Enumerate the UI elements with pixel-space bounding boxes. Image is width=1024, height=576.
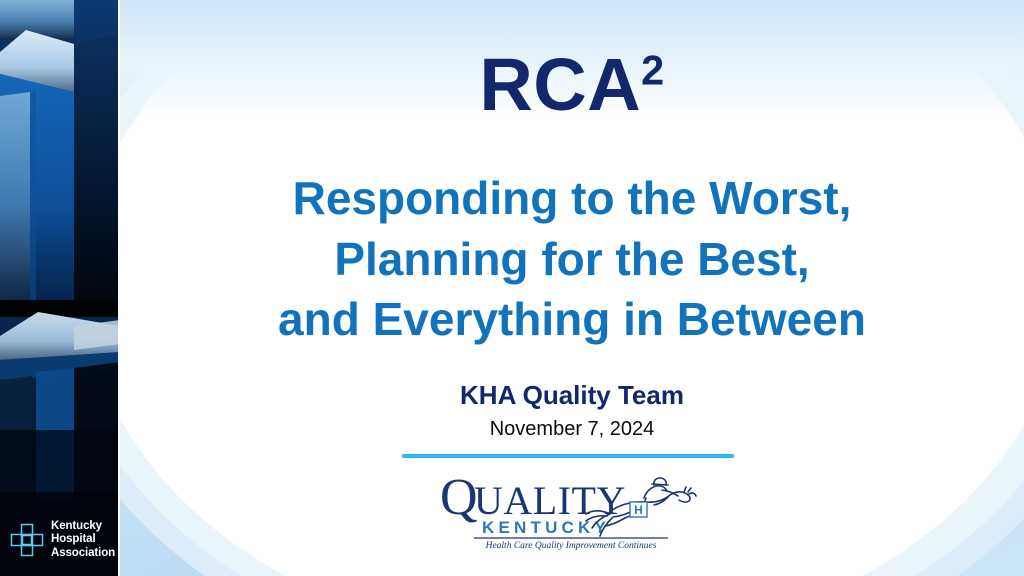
presentation-title-slide: Kentucky Hospital Association RCA2 Respo… [0, 0, 1024, 576]
kha-logo-line-1: Kentucky [51, 520, 115, 533]
kha-logo-line-3: Association [51, 547, 115, 560]
quality-kentucky-graphic: Q UALITY KENTUCKY Health Care Quality Im… [440, 470, 702, 550]
isometric-blocks-graphic [0, 0, 120, 576]
slide-subtitle-line-3: and Everything in Between [120, 289, 1024, 350]
qk-word-kentucky: KENTUCKY [482, 518, 610, 537]
kha-logo-line-2: Hospital [51, 533, 115, 546]
presenter-name: KHA Quality Team [120, 381, 1024, 410]
slide-title-text: RCA [479, 43, 641, 126]
horizontal-divider-rule [402, 454, 734, 458]
slide-subtitle-line-1: Responding to the Worst, [120, 168, 1024, 229]
kha-cross-icon [10, 523, 44, 557]
kentucky-hospital-association-logo: Kentucky Hospital Association [10, 520, 115, 560]
qk-saddle-badge-letter: H [634, 503, 643, 517]
qk-word-q: Q [440, 470, 478, 526]
left-decorative-panel: Kentucky Hospital Association [0, 0, 120, 576]
qk-tagline: Health Care Quality Improvement Continue… [485, 541, 657, 550]
presentation-date: November 7, 2024 [120, 418, 1024, 440]
slide-subtitle: Responding to the Worst, Planning for th… [120, 168, 1024, 350]
slide-title: RCA2 [120, 48, 1024, 122]
kha-logo-text: Kentucky Hospital Association [51, 520, 115, 560]
slide-subtitle-line-2: Planning for the Best, [120, 229, 1024, 290]
slide-title-superscript: 2 [641, 46, 665, 93]
quality-kentucky-logo: Q UALITY KENTUCKY Health Care Quality Im… [440, 470, 702, 550]
slide-content: RCA2 Responding to the Worst, Planning f… [120, 0, 1024, 576]
